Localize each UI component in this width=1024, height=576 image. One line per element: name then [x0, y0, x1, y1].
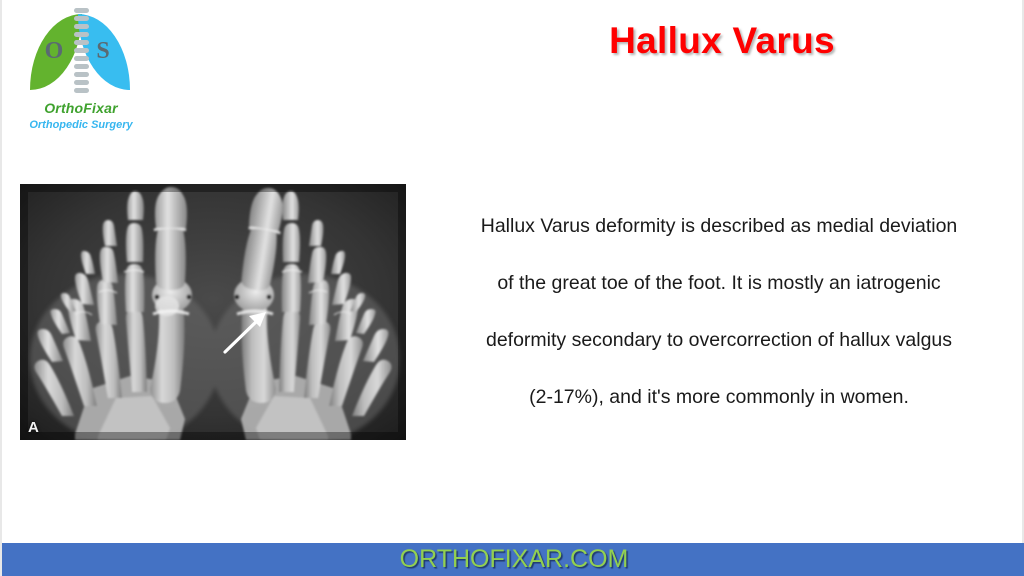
figure-corner-label: A [28, 419, 39, 436]
orthofixar-logo[interactable]: O S OrthoFixar Orthopedic Surgery [16, 4, 146, 140]
body-paragraph: Hallux Varus deformity is described as m… [420, 198, 1018, 426]
body-line-3: deformity secondary to overcorrection of… [420, 312, 1018, 369]
slide-canvas: O S OrthoFixar Orthopedic Surgery Hallux… [0, 0, 1024, 576]
spine-icon [72, 6, 90, 98]
logo-letter-s: S [90, 36, 116, 66]
logo-letter-o: O [41, 36, 67, 66]
logo-mark-icon: O S [28, 6, 132, 98]
page-title: Hallux Varus [422, 20, 1022, 62]
logo-tagline: Orthopedic Surgery [16, 119, 146, 131]
footer-website-label[interactable]: ORTHOFIXAR.COM [2, 543, 1024, 576]
xray-figure: A [20, 184, 406, 440]
logo-name: OrthoFixar [16, 100, 146, 116]
xray-image [20, 184, 406, 440]
body-line-4: (2-17%), and it's more commonly in women… [420, 369, 1018, 426]
body-line-2: of the great toe of the foot. It is most… [420, 255, 1018, 312]
footer-bar: ORTHOFIXAR.COM [2, 543, 1024, 576]
body-line-1: Hallux Varus deformity is described as m… [420, 198, 1018, 255]
